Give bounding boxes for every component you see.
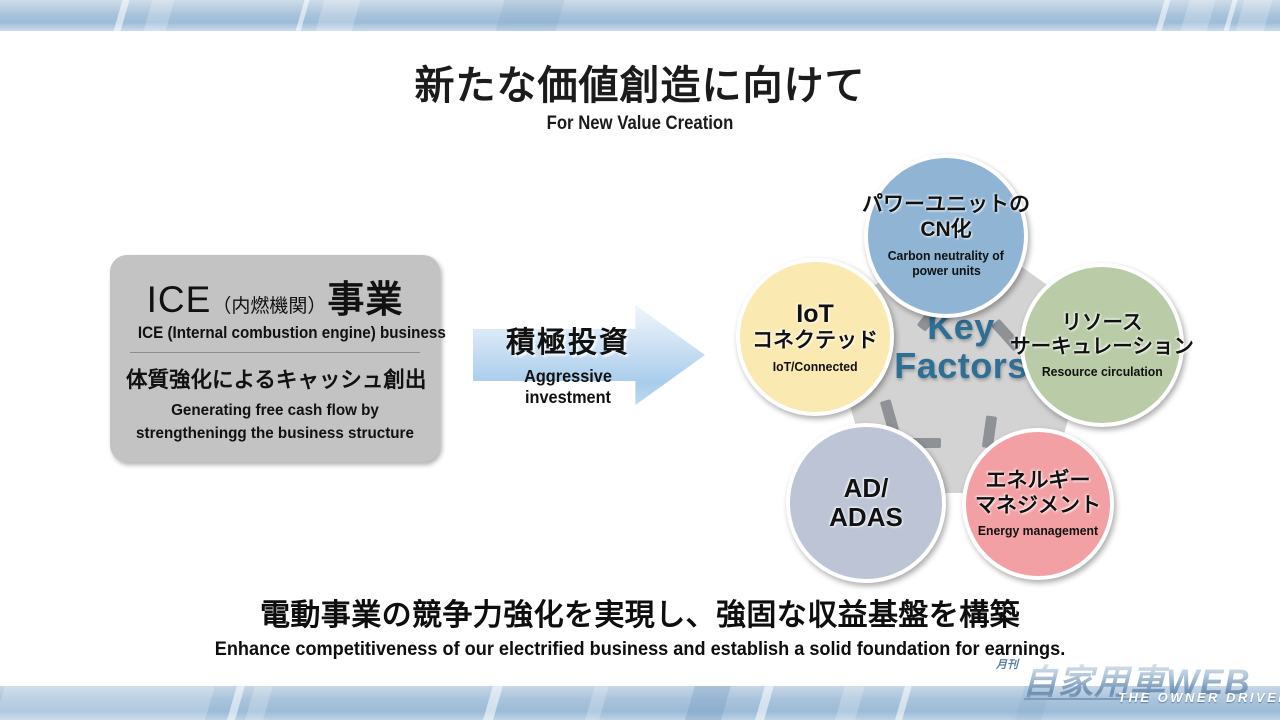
node-title-ja-line2: ADAS [829,503,903,532]
streak [1234,0,1274,31]
ice-paren-japanese: （内燃機関） [211,291,327,318]
streak [583,686,611,720]
node-title-ja-line1: エネルギー [986,469,1091,494]
logo-tagline: THE OWNER DRIVER [1118,690,1280,705]
node-resource-circulation[interactable]: リソース サーキュレーション Resource circulation [1020,263,1184,427]
logo-gekkan-text: 月刊 [996,660,1018,672]
ice-business-card: ICE （内燃機関） 事業 ICE (Internal combustion e… [110,255,440,462]
investment-arrow: 積極投資 Aggressive investment [473,305,705,405]
top-decorative-banner [0,0,1280,31]
streak [753,686,776,720]
streak [833,686,867,720]
slide-title-block: 新たな価値創造に向けて For New Value Creation [0,64,1280,135]
node-title-en-line1: Energy management [978,523,1098,539]
footer-line-japanese: 電動事業の競争力強化を実現し、強固な収益基盤を構築 [0,590,1280,634]
streak [683,686,733,720]
node-title-en-line1: Resource circulation [1042,364,1163,380]
streak [494,0,566,31]
key-factors-diagram: Key Factors パワーユニットの CN化 Carbon neutrali… [718,148,1198,568]
arrow-label-english: Aggressive investment [480,366,657,408]
ice-subtitle-english-line2: strengtheningg the business structure [133,423,416,446]
node-title-ja-line1: リソース [1062,311,1143,335]
streak [225,686,247,720]
streak [142,0,176,31]
arrow-label-japanese: 積極投資 [473,319,663,361]
node-title-ja-line1: パワーユニットの [862,193,1030,218]
footer-message: 電動事業の競争力強化を実現し、強固な収益基盤を構築 Enhance compet… [0,590,1280,661]
node-iot-connected[interactable]: IoT コネクテッド IoT/Connected [736,258,894,416]
node-energy-management[interactable]: エネルギー マネジメント Energy management [962,428,1114,580]
page-subtitle: For New Value Creation [77,113,1203,135]
slide-canvas: 新たな価値創造に向けて For New Value Creation ICE （… [0,0,1280,720]
streak [243,686,275,720]
ice-abbreviation: ICE [147,279,212,321]
page-title: 新たな価値創造に向けて [0,64,1280,109]
streak [112,0,131,31]
streak [893,686,914,720]
streak [481,686,505,720]
ice-subtitle-english-line1: Generating free cash flow by [133,400,416,423]
node-title-ja-line2: コネクテッド [752,329,878,354]
ice-divider [130,352,420,353]
ice-heading-row: ICE （内燃機関） 事業 [126,269,424,323]
node-title-ja-line2: CN化 [920,218,971,243]
ice-subtitle-japanese: 体質強化によるキャッシュ創出 [126,363,424,394]
streak [294,0,311,31]
owner-driver-logo: 月刊 自家用車WEB THE OWNER DRIVER [990,654,1276,710]
arrow-label-group: 積極投資 Aggressive investment [473,319,663,408]
node-title-ja-line2: サーキュレーション [1010,335,1194,359]
ice-business-japanese: 事業 [327,269,403,323]
banner-streaks [0,0,1280,31]
streak [0,686,217,720]
node-ad-adas[interactable]: AD/ ADAS [786,423,946,583]
ice-english-line: ICE (Internal combustion engine) busines… [138,324,412,343]
node-title-ja-line1: IoT [796,300,834,330]
node-title-en-line2: power units [912,263,981,279]
streak [1179,0,1217,31]
streak [314,0,362,31]
node-title-ja-line1: AD/ [844,474,889,503]
node-title-en-line1: IoT/Connected [773,359,858,375]
node-title-ja-line2: マネジメント [975,494,1101,519]
node-title-en-line1: Carbon neutrality of [888,248,1004,264]
node-carbon-neutrality[interactable]: パワーユニットの CN化 Carbon neutrality of power … [864,154,1028,318]
streak [1154,0,1172,31]
